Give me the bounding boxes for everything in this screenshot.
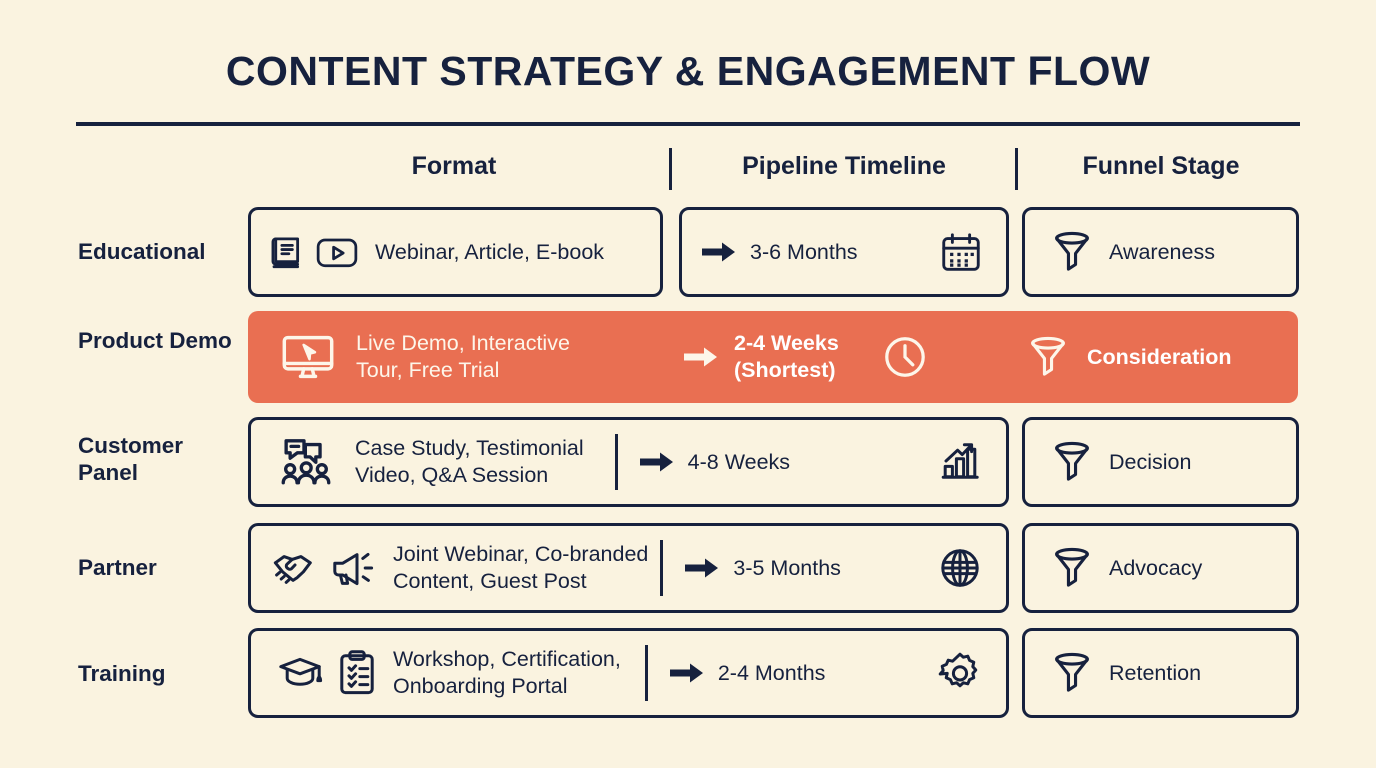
timeline-text-customer-panel: 4-8 Weeks	[688, 449, 790, 476]
row-label-product-demo: Product Demo	[78, 327, 243, 354]
row-label-line: Customer Panel	[78, 433, 183, 485]
bar-chart-growth-icon	[936, 438, 984, 486]
timeline-cell-product-demo[interactable]: 2-4 Weeks (Shortest)	[682, 311, 931, 403]
format-text-customer-panel: Case Study, Testimonial Video, Q&A Sessi…	[355, 435, 584, 489]
format-text-educational: Webinar, Article, E-book	[375, 239, 604, 266]
funnel-text-partner: Advocacy	[1109, 555, 1202, 582]
arrow-right-icon	[683, 554, 721, 582]
format-timeline-cell-partner[interactable]: Joint Webinar, Co-branded Content, Guest…	[248, 523, 1009, 613]
format-text-line2: Video, Q&A Session	[355, 463, 548, 487]
gear-icon	[936, 649, 984, 697]
funnel-text-customer-panel: Decision	[1109, 449, 1191, 476]
arrow-right-icon	[668, 659, 706, 687]
header-divider-1	[669, 148, 672, 190]
play-video-icon	[313, 231, 361, 273]
format-text-line2: Tour, Free Trial	[356, 358, 499, 382]
timeline-text-product-demo: 2-4 Weeks (Shortest)	[734, 330, 839, 384]
monitor-cursor-icon	[280, 331, 336, 383]
funnel-icon	[1047, 543, 1097, 593]
format-text-training: Workshop, Certification, Onboarding Port…	[393, 646, 621, 700]
arrow-right-icon	[638, 448, 676, 476]
row-label-line: Product Demo	[78, 328, 232, 353]
funnel-icon	[1047, 227, 1097, 277]
format-cell-educational[interactable]: Webinar, Article, E-book	[248, 207, 663, 297]
column-header-format: Format	[248, 152, 660, 181]
funnel-cell-partner[interactable]: Advocacy	[1022, 523, 1299, 613]
cell-divider	[615, 434, 618, 490]
format-timeline-cell-customer-panel[interactable]: Case Study, Testimonial Video, Q&A Sessi…	[248, 417, 1009, 507]
format-text-line2: Onboarding Portal	[393, 674, 568, 698]
funnel-cell-educational[interactable]: Awareness	[1022, 207, 1299, 297]
funnel-text-educational: Awareness	[1109, 239, 1215, 266]
handshake-icon	[271, 544, 323, 592]
timeline-text-line1: 2-4 Weeks	[734, 331, 839, 355]
cell-divider	[660, 540, 663, 596]
row-label-partner: Partner	[78, 554, 243, 581]
row-label-customer-panel: Customer Panel	[78, 432, 243, 487]
megaphone-icon	[327, 544, 381, 592]
funnel-text-product-demo: Consideration	[1087, 344, 1232, 371]
column-header-pipeline-timeline: Pipeline Timeline	[680, 152, 1008, 181]
format-text-line2: Content, Guest Post	[393, 569, 587, 593]
cell-divider	[645, 645, 648, 701]
arrow-right-icon	[682, 343, 720, 371]
funnel-icon	[1047, 437, 1097, 487]
format-text-line1: Live Demo, Interactive	[356, 331, 570, 355]
row-label-educational: Educational	[78, 238, 243, 265]
globe-icon	[936, 544, 984, 592]
page-title: CONTENT STRATEGY & ENGAGEMENT FLOW	[0, 48, 1376, 95]
format-text-line1: Workshop, Certification,	[393, 647, 621, 671]
funnel-cell-product-demo[interactable]: Consideration	[1023, 311, 1232, 403]
row-label-training: Training	[78, 660, 243, 687]
format-text-line1: Joint Webinar, Co-branded	[393, 542, 648, 566]
header-divider-2	[1015, 148, 1018, 190]
timeline-text-line2: (Shortest)	[734, 358, 836, 382]
timeline-text-partner: 3-5 Months	[733, 555, 841, 582]
funnel-icon	[1023, 332, 1073, 382]
timeline-cell-educational[interactable]: 3-6 Months	[679, 207, 1009, 297]
funnel-text-training: Retention	[1109, 660, 1201, 687]
format-text-line1: Case Study, Testimonial	[355, 436, 584, 460]
funnel-icon	[1047, 648, 1097, 698]
format-cell-product-demo[interactable]: Live Demo, Interactive Tour, Free Trial	[280, 311, 570, 403]
funnel-cell-training[interactable]: Retention	[1022, 628, 1299, 718]
calendar-icon	[938, 229, 984, 275]
format-text-partner: Joint Webinar, Co-branded Content, Guest…	[393, 541, 648, 595]
column-header-funnel-stage: Funnel Stage	[1022, 152, 1300, 181]
timeline-text-training: 2-4 Months	[718, 660, 826, 687]
clock-icon	[879, 331, 931, 383]
infographic-root: CONTENT STRATEGY & ENGAGEMENT FLOW Forma…	[0, 0, 1376, 768]
funnel-cell-customer-panel[interactable]: Decision	[1022, 417, 1299, 507]
timeline-text-educational: 3-6 Months	[750, 239, 858, 266]
title-divider	[76, 122, 1300, 126]
chat-group-icon	[279, 435, 337, 489]
format-text-product-demo: Live Demo, Interactive Tour, Free Trial	[356, 330, 570, 384]
arrow-right-icon	[700, 238, 738, 266]
graduation-cap-icon	[275, 649, 329, 697]
book-icon	[267, 231, 309, 273]
clipboard-checklist-icon	[335, 648, 379, 698]
format-timeline-cell-training[interactable]: Workshop, Certification, Onboarding Port…	[248, 628, 1009, 718]
highlight-band-product-demo[interactable]: Live Demo, Interactive Tour, Free Trial …	[248, 311, 1298, 403]
